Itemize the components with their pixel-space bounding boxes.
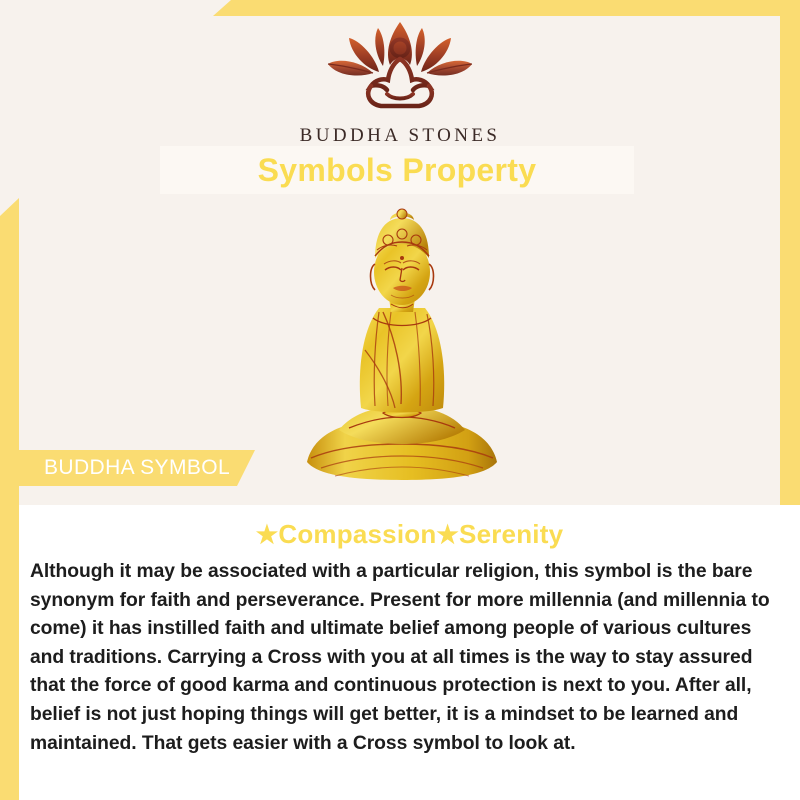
title-band: Symbols Property [160, 146, 634, 194]
brand-header: BUDDHA STONES [0, 18, 800, 147]
description-paragraph: Although it may be associated with a par… [30, 558, 780, 758]
lotus-meditation-figure-icon [315, 18, 485, 119]
buddha-symbol-ribbon: BUDDHA SYMBOL [19, 450, 255, 486]
qualities-line: ★Compassion★Serenity [19, 505, 800, 550]
left-accent-band [0, 198, 19, 800]
page-title: Symbols Property [258, 152, 537, 189]
quality-serenity: Serenity [459, 519, 563, 549]
star-icon-1: ★ [256, 521, 279, 549]
ribbon-label: BUDDHA SYMBOL [19, 456, 230, 480]
golden-seated-buddha-statue [287, 200, 517, 490]
quality-compassion: Compassion [278, 519, 436, 549]
brand-name: BUDDHA STONES [300, 125, 501, 147]
star-icon-2: ★ [436, 521, 459, 549]
infographic-page: BUDDHA STONES Symbols Property [0, 0, 800, 800]
top-accent-band [213, 0, 800, 16]
content-panel: ★Compassion★Serenity Although it may be … [19, 505, 800, 800]
